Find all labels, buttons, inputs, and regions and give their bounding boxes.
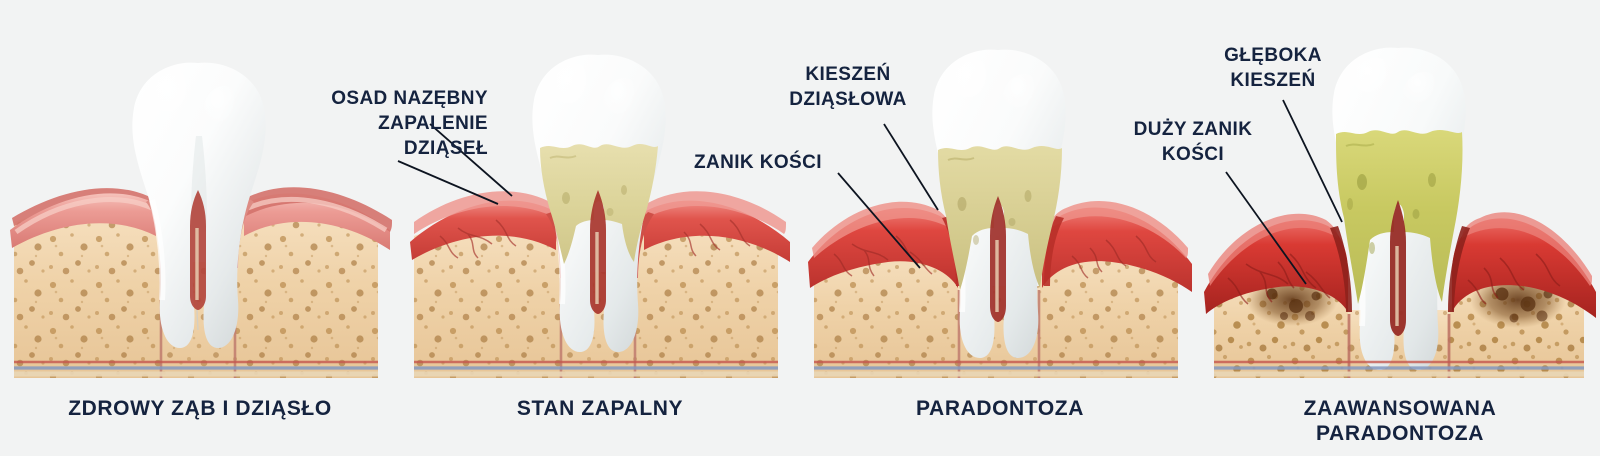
annotation-bone-loss: ZANIK KOŚCI bbox=[694, 150, 914, 175]
annotation-severe-bone-loss: DUŻY ZANIK KOŚCI bbox=[1078, 117, 1308, 167]
annotation-plaque-gingivitis: OSAD NAZĘBNY ZAPALENIE DZIĄSEŁ bbox=[288, 86, 488, 161]
leader-line-severe-bone-loss bbox=[1226, 172, 1306, 284]
annotation-deep-pocket: GŁĘBOKA KIESZEŃ bbox=[1158, 43, 1388, 93]
leader-line-bone-loss bbox=[838, 173, 920, 268]
annotation-gum-pocket: KIESZEŃ DZIĄSŁOWA bbox=[748, 62, 948, 112]
periodontal-disease-stages-diagram: ZDROWY ZĄB I DZIĄSŁO bbox=[0, 0, 1600, 456]
leader-line-gingivitis bbox=[398, 161, 498, 204]
